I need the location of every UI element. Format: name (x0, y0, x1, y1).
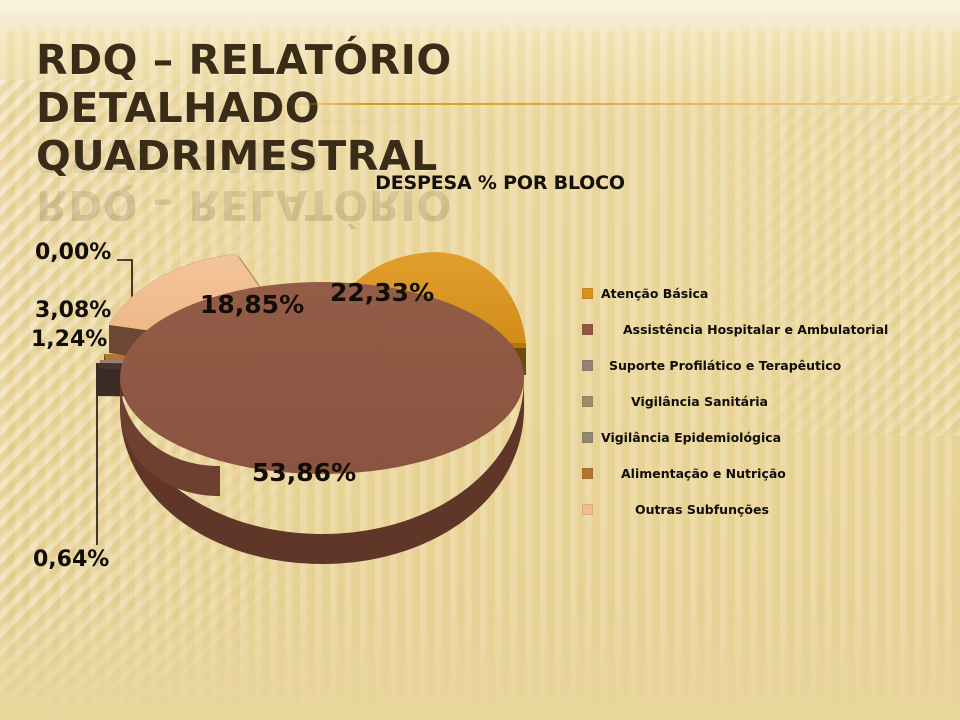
background-bottom-fade (0, 600, 960, 720)
legend-swatch-icon (582, 360, 593, 371)
legend-label: Atenção Básica (601, 286, 708, 301)
pie-value-suporte-profilatico: 0,64% (33, 547, 109, 572)
legend-item-vigilancia-sanitaria[interactable]: Vigilância Sanitária (582, 383, 960, 419)
legend-item-alimentacao-nutricao[interactable]: Alimentação e Nutrição (582, 455, 960, 491)
slide-title-line1: RDQ – RELATÓRIO DETALHADO (36, 36, 716, 132)
legend-item-outras-subfuncoes[interactable]: Outras Subfunções (582, 491, 960, 527)
chart-title: DESPESA % POR BLOCO (0, 172, 960, 194)
legend-label: Vigilância Epidemiológica (601, 430, 781, 445)
chart-legend: Atenção Básica Assistência Hospitalar e … (582, 275, 960, 527)
pie-value-outras-subfuncoes: 18,85% (200, 290, 304, 319)
page-title: RDQ – RELATÓRIO DETALHADO QUADRIMESTRAL (36, 36, 716, 180)
legend-swatch-icon (582, 504, 593, 515)
legend-item-assistencia-hospitalar[interactable]: Assistência Hospitalar e Ambulatorial (582, 311, 960, 347)
legend-label: Assistência Hospitalar e Ambulatorial (601, 322, 888, 337)
legend-swatch-icon (582, 288, 593, 299)
pie-value-vigilancia-sanitaria: 0,00% (35, 240, 111, 265)
background-top-band (0, 0, 960, 34)
legend-item-atencao-basica[interactable]: Atenção Básica (582, 275, 960, 311)
legend-label: Outras Subfunções (601, 502, 769, 517)
legend-swatch-icon (582, 396, 593, 407)
pie-value-alimentacao-nutricao: 1,24% (31, 327, 107, 352)
legend-swatch-icon (582, 324, 593, 335)
legend-label: Alimentação e Nutrição (601, 466, 786, 481)
pie-value-vigilancia-epidemiologica: 3,08% (35, 298, 111, 323)
pie-chart: 22,33% 18,85% 53,86% (60, 230, 580, 570)
legend-label: Suporte Profilático e Terapêutico (601, 358, 841, 373)
presentation-slide: RDQ – RELATÓRIO DETALHADO QUADRIMESTRAL … (0, 0, 960, 720)
title-underline-rule (290, 103, 960, 105)
legend-label: Vigilância Sanitária (601, 394, 768, 409)
pie-slice-assistencia-hospitalar (120, 282, 524, 564)
pie-chart-svg (60, 230, 580, 570)
slide-title-block: RDQ – RELATÓRIO DETALHADO QUADRIMESTRAL … (36, 36, 716, 180)
legend-swatch-icon (582, 432, 593, 443)
chart-title-text: DESPESA % POR BLOCO (335, 172, 625, 194)
legend-item-suporte-profilatico[interactable]: Suporte Profilático e Terapêutico (582, 347, 960, 383)
legend-item-vigilancia-epidemiologica[interactable]: Vigilância Epidemiológica (582, 419, 960, 455)
pie-value-assistencia-hospitalar: 53,86% (252, 458, 356, 487)
legend-swatch-icon (582, 468, 593, 479)
pie-value-atencao-basica: 22,33% (330, 278, 434, 307)
